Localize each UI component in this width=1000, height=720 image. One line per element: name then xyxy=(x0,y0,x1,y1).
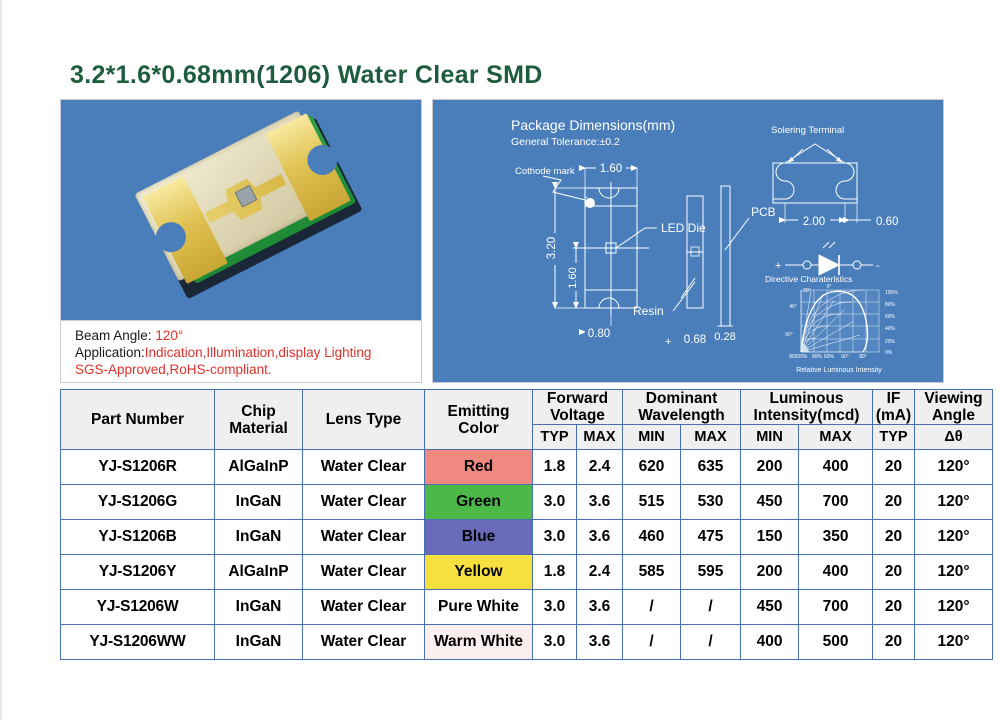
cell-part-number: YJ-S1206B xyxy=(61,520,215,555)
cell-part-number: YJ-S1206Y xyxy=(61,555,215,590)
cell-lens-type: Water Clear xyxy=(303,450,425,485)
beam-angle-line: Beam Angle: 120° xyxy=(75,327,421,344)
resin-label: Resin xyxy=(633,304,664,318)
cell-if-typ: 20 xyxy=(873,555,915,590)
cell-wl-min: 585 xyxy=(623,555,681,590)
cell-wl-max: 530 xyxy=(681,485,741,520)
cell-iv-min: 450 xyxy=(741,590,799,625)
svg-text:+: + xyxy=(665,336,671,348)
cell-iv-min: 450 xyxy=(741,485,799,520)
cell-iv-min: 400 xyxy=(741,625,799,660)
cell-viewing-angle: 120° xyxy=(915,590,993,625)
cell-vf-max: 3.6 xyxy=(577,485,623,520)
cell-wl-max: 475 xyxy=(681,520,741,555)
cell-vf-max: 3.6 xyxy=(577,520,623,555)
cell-wl-max: 635 xyxy=(681,450,741,485)
cell-vf-typ: 1.8 xyxy=(533,450,577,485)
th-emitting-color: Emitting Color xyxy=(425,390,533,450)
led-circuit-symbol xyxy=(785,242,873,275)
cell-wl-max: / xyxy=(681,590,741,625)
th-angle: Δθ xyxy=(915,425,993,450)
diagram-tolerance: General Tolerance:±0.2 xyxy=(511,136,620,148)
dim-pcb-thickness: 0.28 xyxy=(714,331,735,343)
page-title: 3.2*1.6*0.68mm(1206) Water Clear SMD xyxy=(70,61,543,90)
svg-text:20%: 20% xyxy=(885,339,896,345)
svg-text:20°: 20° xyxy=(803,288,811,294)
svg-text:60°: 60° xyxy=(841,354,849,360)
table-row: YJ-S1206RAlGaInPWater ClearRed1.82.46206… xyxy=(61,450,993,485)
table-row: YJ-S1206YAlGaInPWater ClearYellow1.82.45… xyxy=(61,555,993,590)
dim-pad-pitch: 2.00 xyxy=(803,216,825,228)
cell-wl-min: / xyxy=(623,625,681,660)
pad-notch-right xyxy=(302,140,342,180)
th-wl-min: MIN xyxy=(623,425,681,450)
cell-chip-material: InGaN xyxy=(215,590,303,625)
directive-characteristics-label: Directive Charaterlstics xyxy=(765,274,852,284)
cell-wl-min: 460 xyxy=(623,520,681,555)
svg-text:80°: 80° xyxy=(859,354,867,360)
table-row: YJ-S1206GInGaNWater ClearGreen3.03.65155… xyxy=(61,485,993,520)
svg-text:80%: 80% xyxy=(812,354,823,360)
cell-vf-typ: 3.0 xyxy=(533,520,577,555)
cell-lens-type: Water Clear xyxy=(303,520,425,555)
th-if-typ: TYP xyxy=(873,425,915,450)
cell-if-typ: 20 xyxy=(873,590,915,625)
table-header-row-1: Part Number Chip Material Lens Type Emit… xyxy=(61,390,993,425)
th-viewing-angle: Viewing Angle xyxy=(915,390,993,425)
datasheet-page: 3.2*1.6*0.68mm(1206) Water Clear SMD xyxy=(0,0,1000,720)
caption-panel: Beam Angle: 120° Application:Indication,… xyxy=(60,321,422,383)
th-vf-typ: TYP xyxy=(533,425,577,450)
diagram-heading: Package Dimensions(mm) xyxy=(511,117,675,133)
cell-viewing-angle: 120° xyxy=(915,485,993,520)
table-row: YJ-S1206WWInGaNWater ClearWarm White3.03… xyxy=(61,625,993,660)
cell-vf-typ: 3.0 xyxy=(533,485,577,520)
compliance-line: SGS-Approved,RoHS-compliant. xyxy=(75,361,421,378)
cell-viewing-angle: 120° xyxy=(915,555,993,590)
product-photo xyxy=(61,100,421,320)
pad-notch-left xyxy=(151,217,191,257)
cathode-mark-label: Cothode mark xyxy=(515,166,575,177)
svg-text:100%: 100% xyxy=(795,354,808,360)
package-dimensions-diagram: Package Dimensions(mm) General Tolerance… xyxy=(433,100,943,382)
cell-emitting-color: Green xyxy=(425,485,533,520)
svg-text:0°: 0° xyxy=(827,284,832,290)
cell-chip-material: AlGaInP xyxy=(215,555,303,590)
cell-iv-min: 200 xyxy=(741,555,799,590)
dim-pad-width: 0.60 xyxy=(876,216,898,228)
cell-vf-max: 2.4 xyxy=(577,555,623,590)
cell-viewing-angle: 120° xyxy=(915,625,993,660)
cell-part-number: YJ-S1206WW xyxy=(61,625,215,660)
th-dominant-wavelength: Dominant Wavelength xyxy=(623,390,741,425)
cell-iv-min: 150 xyxy=(741,520,799,555)
dim-width-top: 1.60 xyxy=(600,163,622,175)
cell-iv-max: 500 xyxy=(799,625,873,660)
svg-text:60%: 60% xyxy=(824,354,835,360)
cell-vf-max: 2.4 xyxy=(577,450,623,485)
led-pad-left xyxy=(142,176,227,284)
application-line: Application:Indication,Illumination,disp… xyxy=(75,344,421,361)
dim-thickness: 0.68 xyxy=(684,334,706,346)
th-forward-voltage: Forward Voltage xyxy=(533,390,623,425)
cell-wl-max: 595 xyxy=(681,555,741,590)
svg-text:80%: 80% xyxy=(885,302,896,308)
cell-emitting-color: Blue xyxy=(425,520,533,555)
svg-text:0.80: 0.80 xyxy=(588,328,610,340)
pcb-label: PCB xyxy=(751,205,776,219)
cell-vf-max: 3.6 xyxy=(577,590,623,625)
application-label: Application: xyxy=(75,345,145,360)
soldering-terminal-label: Solering Terminal xyxy=(771,125,844,136)
table-row: YJ-S1206WInGaNWater ClearPure White3.03.… xyxy=(61,590,993,625)
package-dimensions-panel: Package Dimensions(mm) General Tolerance… xyxy=(432,99,944,383)
cell-emitting-color: Red xyxy=(425,450,533,485)
cell-emitting-color: Pure White xyxy=(425,590,533,625)
th-luminous-intensity: Luminous Intensity(mcd) xyxy=(741,390,873,425)
svg-text:40%: 40% xyxy=(885,326,896,332)
beam-angle-label: Beam Angle: xyxy=(75,328,152,343)
beam-angle-value: 120° xyxy=(155,328,183,343)
product-photo-panel xyxy=(60,99,422,321)
cell-vf-typ: 3.0 xyxy=(533,625,577,660)
cell-wl-min: 515 xyxy=(623,485,681,520)
cell-emitting-color: Yellow xyxy=(425,555,533,590)
cell-if-typ: 20 xyxy=(873,485,915,520)
relative-luminous-intensity-label: Relative Luminous Intensity xyxy=(796,367,882,374)
cell-chip-material: InGaN xyxy=(215,520,303,555)
cell-lens-type: Water Clear xyxy=(303,485,425,520)
cell-iv-max: 350 xyxy=(799,520,873,555)
cell-if-typ: 20 xyxy=(873,625,915,660)
svg-text:-: - xyxy=(876,260,880,272)
cell-viewing-angle: 120° xyxy=(915,450,993,485)
svg-text:-: - xyxy=(585,192,588,202)
cell-emitting-color: Warm White xyxy=(425,625,533,660)
th-wl-max: MAX xyxy=(681,425,741,450)
cell-chip-material: AlGaInP xyxy=(215,450,303,485)
cell-chip-material: InGaN xyxy=(215,625,303,660)
th-vf-max: MAX xyxy=(577,425,623,450)
specification-table: Part Number Chip Material Lens Type Emit… xyxy=(60,389,993,660)
cell-lens-type: Water Clear xyxy=(303,590,425,625)
cell-vf-max: 3.6 xyxy=(577,625,623,660)
polar-plot: 0° 20° 40° 60° 80° 60° 80° 100% 80% 60% … xyxy=(785,284,898,374)
dim-height-inner: 1.60 xyxy=(567,267,579,288)
cell-iv-max: 400 xyxy=(799,555,873,590)
th-if: IF (mA) xyxy=(873,390,915,425)
cell-vf-typ: 3.0 xyxy=(533,590,577,625)
cell-iv-max: 400 xyxy=(799,450,873,485)
led-die-label: LED Die xyxy=(661,221,706,235)
cell-lens-type: Water Clear xyxy=(303,555,425,590)
svg-text:60%: 60% xyxy=(885,314,896,320)
th-iv-max: MAX xyxy=(799,425,873,450)
cell-part-number: YJ-S1206W xyxy=(61,590,215,625)
svg-text:100%: 100% xyxy=(885,290,898,296)
cell-iv-max: 700 xyxy=(799,590,873,625)
cell-if-typ: 20 xyxy=(873,450,915,485)
cell-part-number: YJ-S1206R xyxy=(61,450,215,485)
svg-text:+: + xyxy=(775,260,781,272)
svg-text:40°: 40° xyxy=(789,304,797,310)
cell-wl-min: / xyxy=(623,590,681,625)
svg-text:0%: 0% xyxy=(885,350,893,356)
application-value: Indication,Illumination,display Lighting xyxy=(145,345,372,360)
cell-if-typ: 20 xyxy=(873,520,915,555)
cell-wl-max: / xyxy=(681,625,741,660)
th-lens-type: Lens Type xyxy=(303,390,425,450)
th-iv-min: MIN xyxy=(741,425,799,450)
th-chip-material: Chip Material xyxy=(215,390,303,450)
cell-viewing-angle: 120° xyxy=(915,520,993,555)
cell-chip-material: InGaN xyxy=(215,485,303,520)
dim-height-total: 3.20 xyxy=(546,237,558,259)
cell-iv-max: 700 xyxy=(799,485,873,520)
cell-vf-typ: 1.8 xyxy=(533,555,577,590)
th-part-number: Part Number xyxy=(61,390,215,450)
table-row: YJ-S1206BInGaNWater ClearBlue3.03.646047… xyxy=(61,520,993,555)
cell-part-number: YJ-S1206G xyxy=(61,485,215,520)
cell-lens-type: Water Clear xyxy=(303,625,425,660)
cell-wl-min: 620 xyxy=(623,450,681,485)
table-body: YJ-S1206RAlGaInPWater ClearRed1.82.46206… xyxy=(61,450,993,660)
svg-text:60°: 60° xyxy=(785,332,793,338)
led-component-illustration xyxy=(126,101,371,321)
cell-iv-min: 200 xyxy=(741,450,799,485)
